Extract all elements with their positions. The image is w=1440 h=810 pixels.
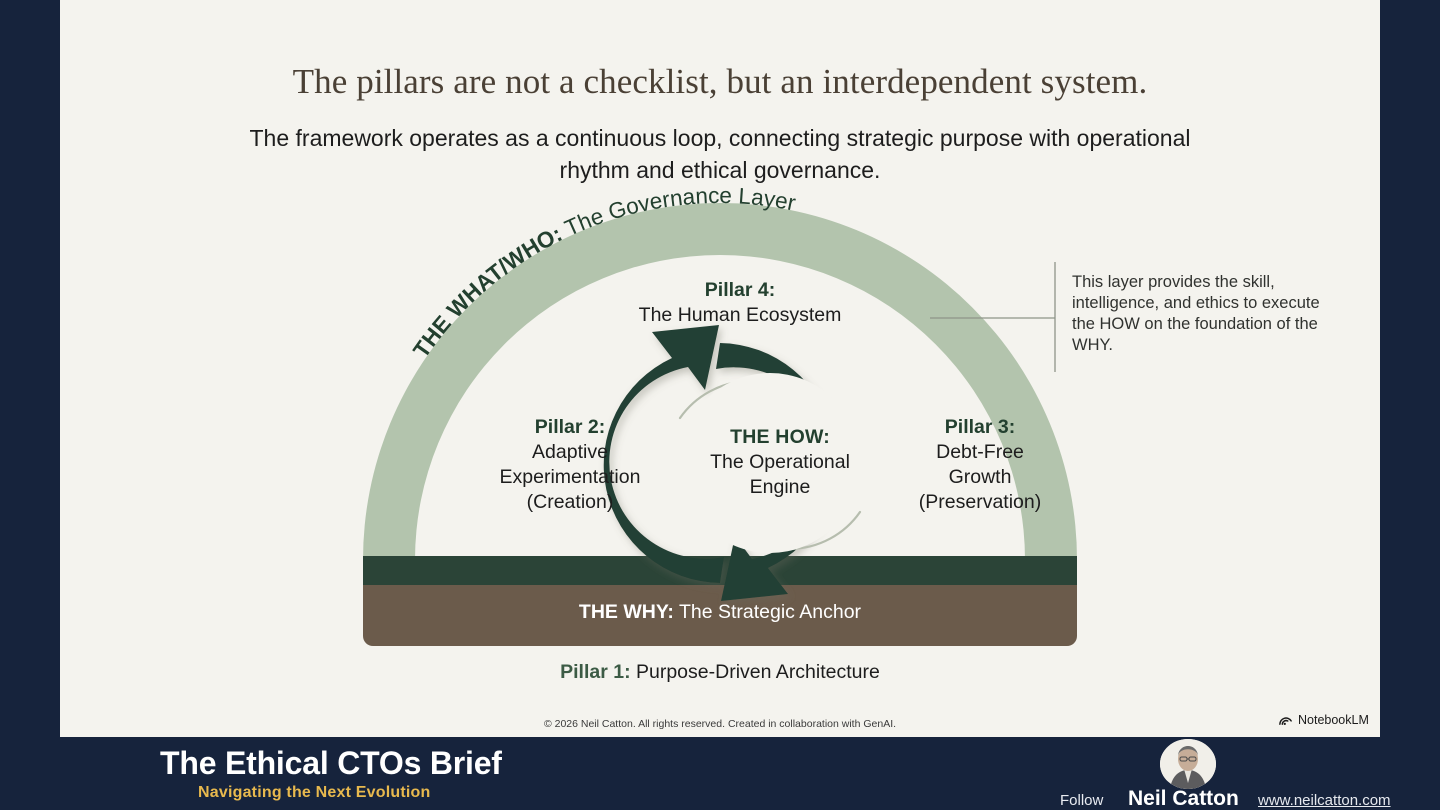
slide-root: The pillars are not a checklist, but an … [0,0,1440,810]
pillar-4-line-1: The Human Ecosystem [639,304,842,326]
pillar-2-line-2: Experimentation [500,466,641,488]
notebooklm-icon [1278,712,1293,727]
slide-canvas: The pillars are not a checklist, but an … [60,0,1380,737]
strategic-anchor-label: THE WHY: The Strategic Anchor [360,601,1080,624]
pillar-1-rest: Purpose-Driven Architecture [631,661,880,683]
pillar-1-bold: Pillar 1: [560,661,630,683]
framework-diagram: THE WHAT/WHO: The Governance Layer [60,0,1380,737]
notebooklm-logo: NotebookLM [1278,712,1369,727]
how-line-2: Engine [750,476,811,498]
left-navy-border [0,0,60,810]
avatar [1160,739,1216,789]
avatar-photo-icon [1160,739,1216,789]
why-bold: THE WHY: [579,601,674,623]
diagram-svg: THE WHAT/WHO: The Governance Layer [60,0,1380,737]
website-link[interactable]: www.neilcatton.com [1258,792,1391,809]
pillar-3-line-1: Debt-Free [936,441,1024,463]
notebooklm-label: NotebookLM [1298,713,1369,727]
pillar-2-line-1: Adaptive [532,441,608,463]
person-name: Neil Catton [1128,787,1239,810]
footer-bar: The Ethical CTOs Brief Navigating the Ne… [0,737,1440,810]
pillar-3-line-3: (Preservation) [919,491,1041,513]
copyright-note: © 2026 Neil Catton. All rights reserved.… [60,718,1380,730]
follow-label: Follow [1060,792,1103,809]
how-line-1: The Operational [710,451,850,473]
brand-subtitle: Navigating the Next Evolution [198,784,431,802]
governance-annotation: This layer provides the skill, intellige… [1072,272,1332,356]
pillar-4-label: Pillar 4: The Human Ecosystem [580,278,900,328]
pillar-3-line-2: Growth [949,466,1012,488]
brand-title: The Ethical CTOs Brief [160,745,502,782]
how-heading: THE HOW: [630,425,930,450]
pillar-2-line-3: (Creation) [527,491,614,513]
pillar-4-heading: Pillar 4: [580,278,900,303]
right-navy-border [1380,0,1440,810]
why-rest: The Strategic Anchor [674,601,861,623]
operational-engine-label: THE HOW: The Operational Engine [630,425,930,500]
pillar-1-label: Pillar 1: Purpose-Driven Architecture [360,661,1080,684]
